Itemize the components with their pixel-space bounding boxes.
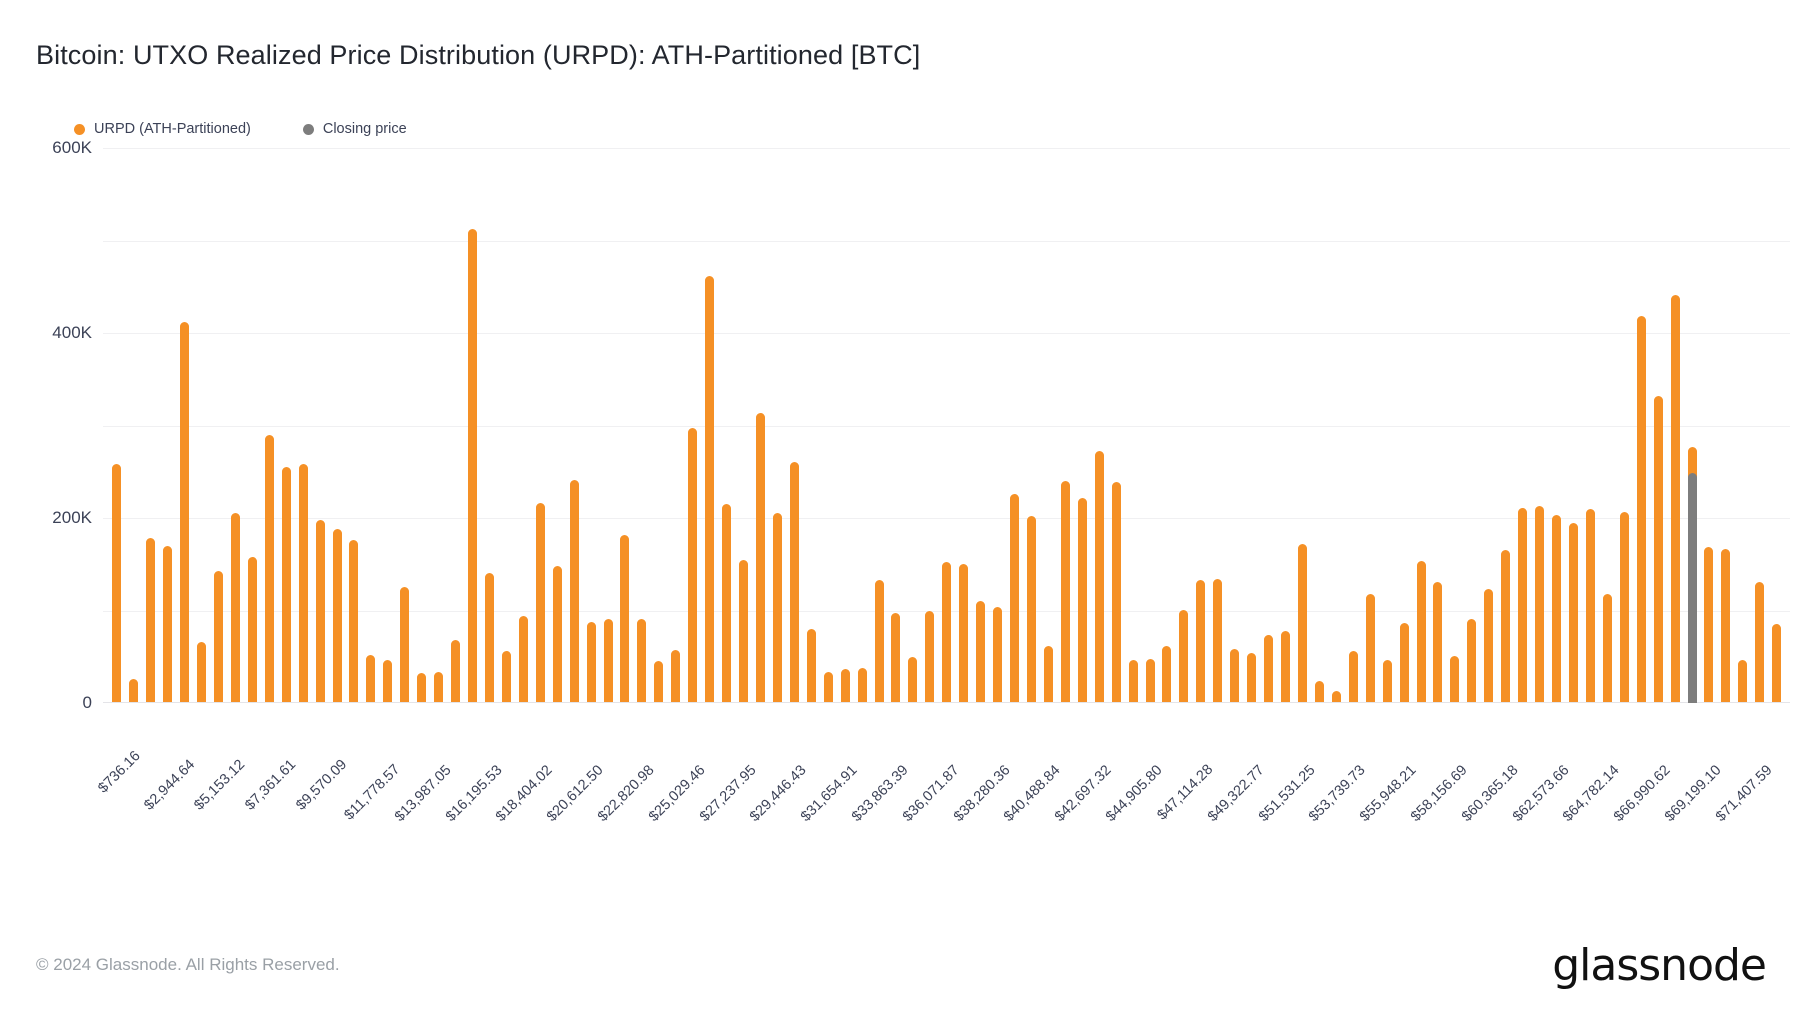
x-axis-tick-label: $9,570.09 xyxy=(339,711,396,768)
y-axis-tick-label: 200K xyxy=(52,508,92,528)
bar[interactable] xyxy=(891,613,900,703)
bar[interactable] xyxy=(163,546,172,703)
bar[interactable] xyxy=(417,673,426,703)
y-axis: 0200K400K600K xyxy=(0,0,103,703)
bar[interactable] xyxy=(1772,624,1781,703)
bar[interactable] xyxy=(1112,482,1121,703)
bar[interactable] xyxy=(1586,509,1595,703)
chart-legend: URPD (ATH-Partitioned) Closing price xyxy=(74,121,407,137)
y-axis-tick-label: 0 xyxy=(83,693,92,713)
bar[interactable] xyxy=(1721,549,1730,703)
bar[interactable] xyxy=(959,564,968,703)
bar[interactable] xyxy=(349,540,358,703)
bar[interactable] xyxy=(1535,506,1544,703)
bar[interactable] xyxy=(1484,589,1493,703)
bar[interactable] xyxy=(536,503,545,703)
bar[interactable] xyxy=(1671,295,1680,703)
bar[interactable] xyxy=(875,580,884,703)
bar-series xyxy=(103,148,1790,703)
bar[interactable] xyxy=(1467,619,1476,703)
x-axis-tick-label: $736.16 xyxy=(132,711,180,759)
bar[interactable] xyxy=(146,538,155,703)
y-axis-tick-label: 600K xyxy=(52,138,92,158)
bar[interactable] xyxy=(1027,516,1036,703)
bar[interactable] xyxy=(858,668,867,703)
bar[interactable] xyxy=(1738,660,1747,703)
bar[interactable] xyxy=(553,566,562,703)
bar[interactable] xyxy=(180,322,189,703)
bar[interactable] xyxy=(1078,498,1087,703)
bar[interactable] xyxy=(1146,659,1155,703)
bar[interactable] xyxy=(333,529,342,703)
bar[interactable] xyxy=(282,467,291,703)
bar[interactable] xyxy=(807,629,816,703)
bar[interactable] xyxy=(1247,653,1256,703)
bar[interactable] xyxy=(1417,561,1426,703)
bar[interactable] xyxy=(1620,512,1629,703)
bar[interactable] xyxy=(1603,594,1612,703)
bar[interactable] xyxy=(214,571,223,703)
closing-price-bar[interactable] xyxy=(1688,473,1697,703)
bar[interactable] xyxy=(587,622,596,703)
bar[interactable] xyxy=(722,504,731,703)
bar[interactable] xyxy=(519,616,528,703)
bar[interactable] xyxy=(112,464,121,703)
bar[interactable] xyxy=(485,573,494,703)
bar[interactable] xyxy=(1383,660,1392,703)
bar[interactable] xyxy=(1095,451,1104,703)
bar[interactable] xyxy=(1129,660,1138,703)
chart-title: Bitcoin: UTXO Realized Price Distributio… xyxy=(36,40,920,71)
bar[interactable] xyxy=(1433,582,1442,703)
bar[interactable] xyxy=(1755,582,1764,703)
bar[interactable] xyxy=(265,435,274,703)
bar[interactable] xyxy=(434,672,443,703)
bar[interactable] xyxy=(756,413,765,703)
x-axis: $736.16$2,944.64$5,153.12$7,361.61$9,570… xyxy=(103,703,1790,833)
bar[interactable] xyxy=(1501,550,1510,703)
bar[interactable] xyxy=(773,513,782,703)
bar[interactable] xyxy=(400,587,409,703)
bar[interactable] xyxy=(993,607,1002,703)
bar[interactable] xyxy=(1264,635,1273,703)
legend-label-urpd: URPD (ATH-Partitioned) xyxy=(94,121,251,137)
bar[interactable] xyxy=(688,428,697,703)
bar[interactable] xyxy=(366,655,375,703)
bar[interactable] xyxy=(637,619,646,703)
bar[interactable] xyxy=(654,661,663,703)
bar[interactable] xyxy=(1010,494,1019,703)
bar[interactable] xyxy=(1298,544,1307,703)
legend-dot-icon xyxy=(303,124,314,135)
bar[interactable] xyxy=(908,657,917,703)
bar[interactable] xyxy=(976,601,985,703)
bar[interactable] xyxy=(925,611,934,703)
bar[interactable] xyxy=(570,480,579,703)
y-axis-tick-label: 400K xyxy=(52,323,92,343)
bar[interactable] xyxy=(739,560,748,703)
bar[interactable] xyxy=(316,520,325,703)
bar[interactable] xyxy=(604,619,613,703)
chart-root: Bitcoin: UTXO Realized Price Distributio… xyxy=(0,0,1800,1013)
bar[interactable] xyxy=(1315,681,1324,703)
plot-area xyxy=(103,148,1790,703)
bar[interactable] xyxy=(1552,515,1561,703)
bar[interactable] xyxy=(502,651,511,703)
bar[interactable] xyxy=(1450,656,1459,703)
bar[interactable] xyxy=(1654,396,1663,703)
bar[interactable] xyxy=(1349,651,1358,703)
bar[interactable] xyxy=(383,660,392,703)
legend-item-closing-price[interactable]: Closing price xyxy=(303,121,407,137)
glassnode-logo: glassnode xyxy=(1552,940,1766,991)
bar[interactable] xyxy=(248,557,257,703)
bar[interactable] xyxy=(129,679,138,703)
bar[interactable] xyxy=(231,513,240,703)
bar[interactable] xyxy=(1061,481,1070,703)
bar[interactable] xyxy=(1281,631,1290,703)
bar[interactable] xyxy=(468,229,477,703)
bar[interactable] xyxy=(1162,646,1171,703)
bar[interactable] xyxy=(1179,610,1188,703)
bar[interactable] xyxy=(1637,316,1646,703)
bar[interactable] xyxy=(1366,594,1375,703)
bar[interactable] xyxy=(1196,580,1205,703)
bar[interactable] xyxy=(1230,649,1239,703)
bar[interactable] xyxy=(1044,646,1053,703)
bar[interactable] xyxy=(620,535,629,703)
bar[interactable] xyxy=(1569,523,1578,703)
bar[interactable] xyxy=(790,462,799,703)
bar[interactable] xyxy=(824,672,833,703)
bar[interactable] xyxy=(705,276,714,703)
legend-label-closing-price: Closing price xyxy=(323,121,407,137)
bar[interactable] xyxy=(942,562,951,703)
bar[interactable] xyxy=(197,642,206,703)
bar[interactable] xyxy=(451,640,460,703)
bar[interactable] xyxy=(1213,579,1222,703)
bar[interactable] xyxy=(299,464,308,703)
bar[interactable] xyxy=(841,669,850,703)
footer-copyright: © 2024 Glassnode. All Rights Reserved. xyxy=(36,955,340,975)
bar[interactable] xyxy=(1704,547,1713,703)
bar[interactable] xyxy=(1400,623,1409,703)
bar[interactable] xyxy=(671,650,680,703)
bar[interactable] xyxy=(1518,508,1527,703)
